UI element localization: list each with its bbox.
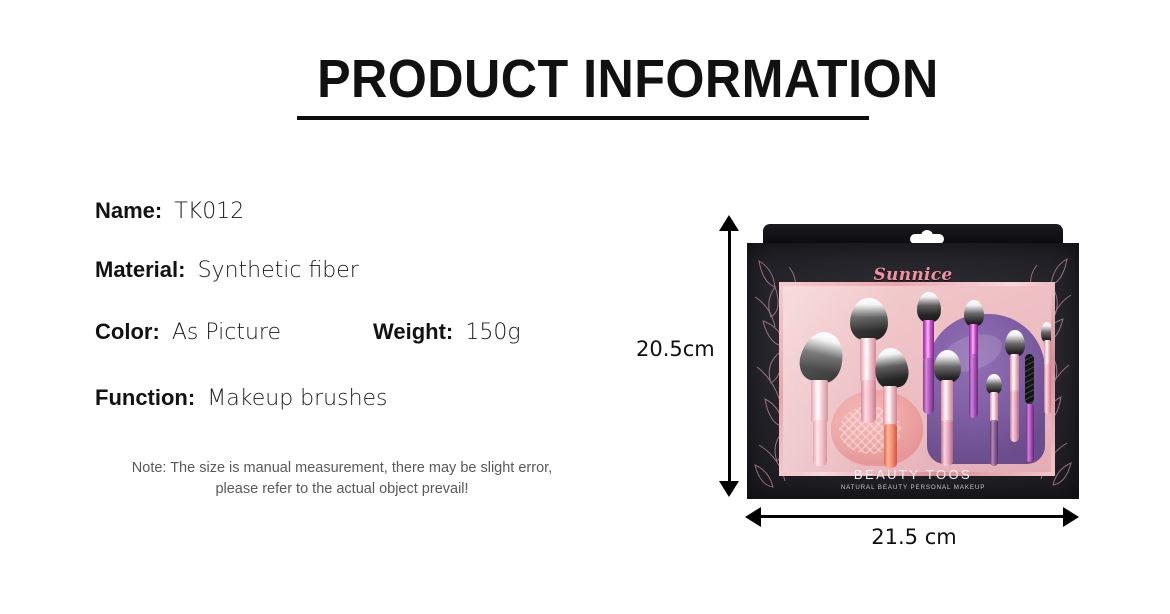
spiral-brush-head-icon [1025,354,1034,404]
measurement-note: Note: The size is manual measurement, th… [62,458,622,500]
brush-eyeshadow-magenta [964,300,984,418]
package-window [779,282,1055,476]
page-title: PRODUCT INFORMATION [317,48,851,110]
spec-value-material: Synthetic fiber [198,258,359,283]
brush-handle [969,354,978,418]
brush-ferrule [969,324,978,356]
dimension-arrow-right-icon [1063,507,1079,527]
brush-handle [990,420,998,466]
product-information-page: PRODUCT INFORMATION Name: TK012 Material… [0,0,1170,614]
spec-value-color: As Picture [172,320,281,345]
brush-handle [1010,390,1019,442]
brush-edge-partial [1041,322,1053,414]
dimension-arrow-down-icon [719,481,739,497]
dimension-line-horizontal [757,515,1069,518]
package-product-title: BEAUTY TOOS [747,467,1079,482]
spec-label-color: Color: [95,319,160,344]
measurement-note-line-1: Note: The size is manual measurement, th… [62,458,622,479]
package-product-subtitle: NATURAL BEAUTY PERSONAL MAKEUP [747,484,1079,491]
brush-ferrule [1010,354,1019,392]
spec-row-function: Function: Makeup brushes [95,385,388,411]
brush-handle [1044,364,1051,414]
spec-value-function: Makeup brushes [207,386,387,411]
spec-row-color: Color: As Picture [95,319,281,345]
spec-label-material: Material: [95,257,185,282]
brush-bristles [986,374,1002,394]
brush-bristles [1005,330,1025,356]
dimension-label-height: 20.5cm [636,337,715,361]
dimension-line-vertical [728,228,731,486]
spec-label-name: Name: [95,198,162,223]
brush-bristles [1041,322,1053,342]
spec-row-name: Name: TK012 [95,198,244,224]
brush-concealer-small [986,374,1002,466]
brush-blending-rose [1005,330,1025,442]
spec-row-weight: Weight: 150g [373,319,521,345]
title-block: PRODUCT INFORMATION [297,48,871,110]
brush-bristles [964,300,984,326]
product-package-image: Sunnice [747,224,1079,499]
package-bottom-text: BEAUTY TOOS NATURAL BEAUTY PERSONAL MAKE… [747,467,1079,491]
spec-label-weight: Weight: [373,319,453,344]
blister-tray-sheen [779,282,957,476]
measurement-note-line-2: please refer to the actual object prevai… [62,479,622,500]
brush-ferrule [990,392,998,422]
brush-ferrule [1044,340,1051,366]
spec-value-weight: 150g [465,320,520,345]
title-underline [297,116,869,120]
package-box-body: Sunnice [747,243,1079,499]
spec-label-function: Function: [95,385,195,410]
brush-mascara-spiral [1025,354,1035,462]
spec-row-material: Material: Synthetic fiber [95,257,359,283]
spec-value-name: TK012 [174,199,244,224]
dimension-label-width: 21.5 cm [818,525,1010,549]
brush-handle [1026,404,1034,462]
